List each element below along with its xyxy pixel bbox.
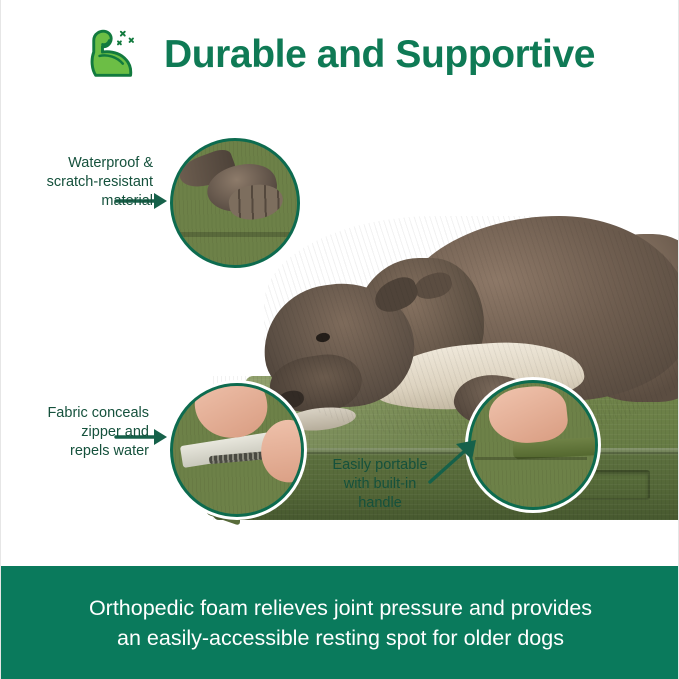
callout-waterproof-line-2: scratch-resistant [13, 173, 153, 192]
callout-waterproof-line-3: material [13, 192, 153, 211]
bottom-banner: Orthopedic foam relieves joint pressure … [1, 566, 679, 679]
callout-zipper-line-2: zipper and [1, 423, 149, 442]
callout-zipper-line-1: Fabric conceals [1, 404, 149, 423]
callout-zipper: Fabric conceals zipper and repels water [1, 404, 149, 461]
page-title: Durable and Supportive [164, 35, 595, 74]
callout-waterproof: Waterproof & scratch-resistant material [13, 154, 153, 211]
banner-line-1: Orthopedic foam relieves joint pressure … [89, 593, 592, 623]
callout-handle-line-3: handle [317, 494, 443, 513]
inset-fabric-seam [173, 232, 297, 237]
callout-handle-line-2: with built-in [317, 475, 443, 494]
inset-built-in-handle [468, 380, 598, 510]
callout-zipper-line-3: repels water [1, 442, 149, 461]
callout-waterproof-line-1: Waterproof & [13, 154, 153, 173]
header: Durable and Supportive [1, 14, 679, 94]
banner-line-2: an easily-accessible resting spot for ol… [117, 623, 564, 653]
flexed-bicep-icon [86, 23, 148, 85]
product-infographic: Durable and Supportive K9 [0, 0, 679, 679]
inset-handle-seam [475, 457, 587, 460]
inset-hidden-zipper [170, 383, 304, 517]
callout-handle: Easily portable with built-in handle [317, 456, 443, 513]
callout-handle-line-1: Easily portable [317, 456, 443, 475]
inset-paw-on-fabric [170, 138, 300, 268]
